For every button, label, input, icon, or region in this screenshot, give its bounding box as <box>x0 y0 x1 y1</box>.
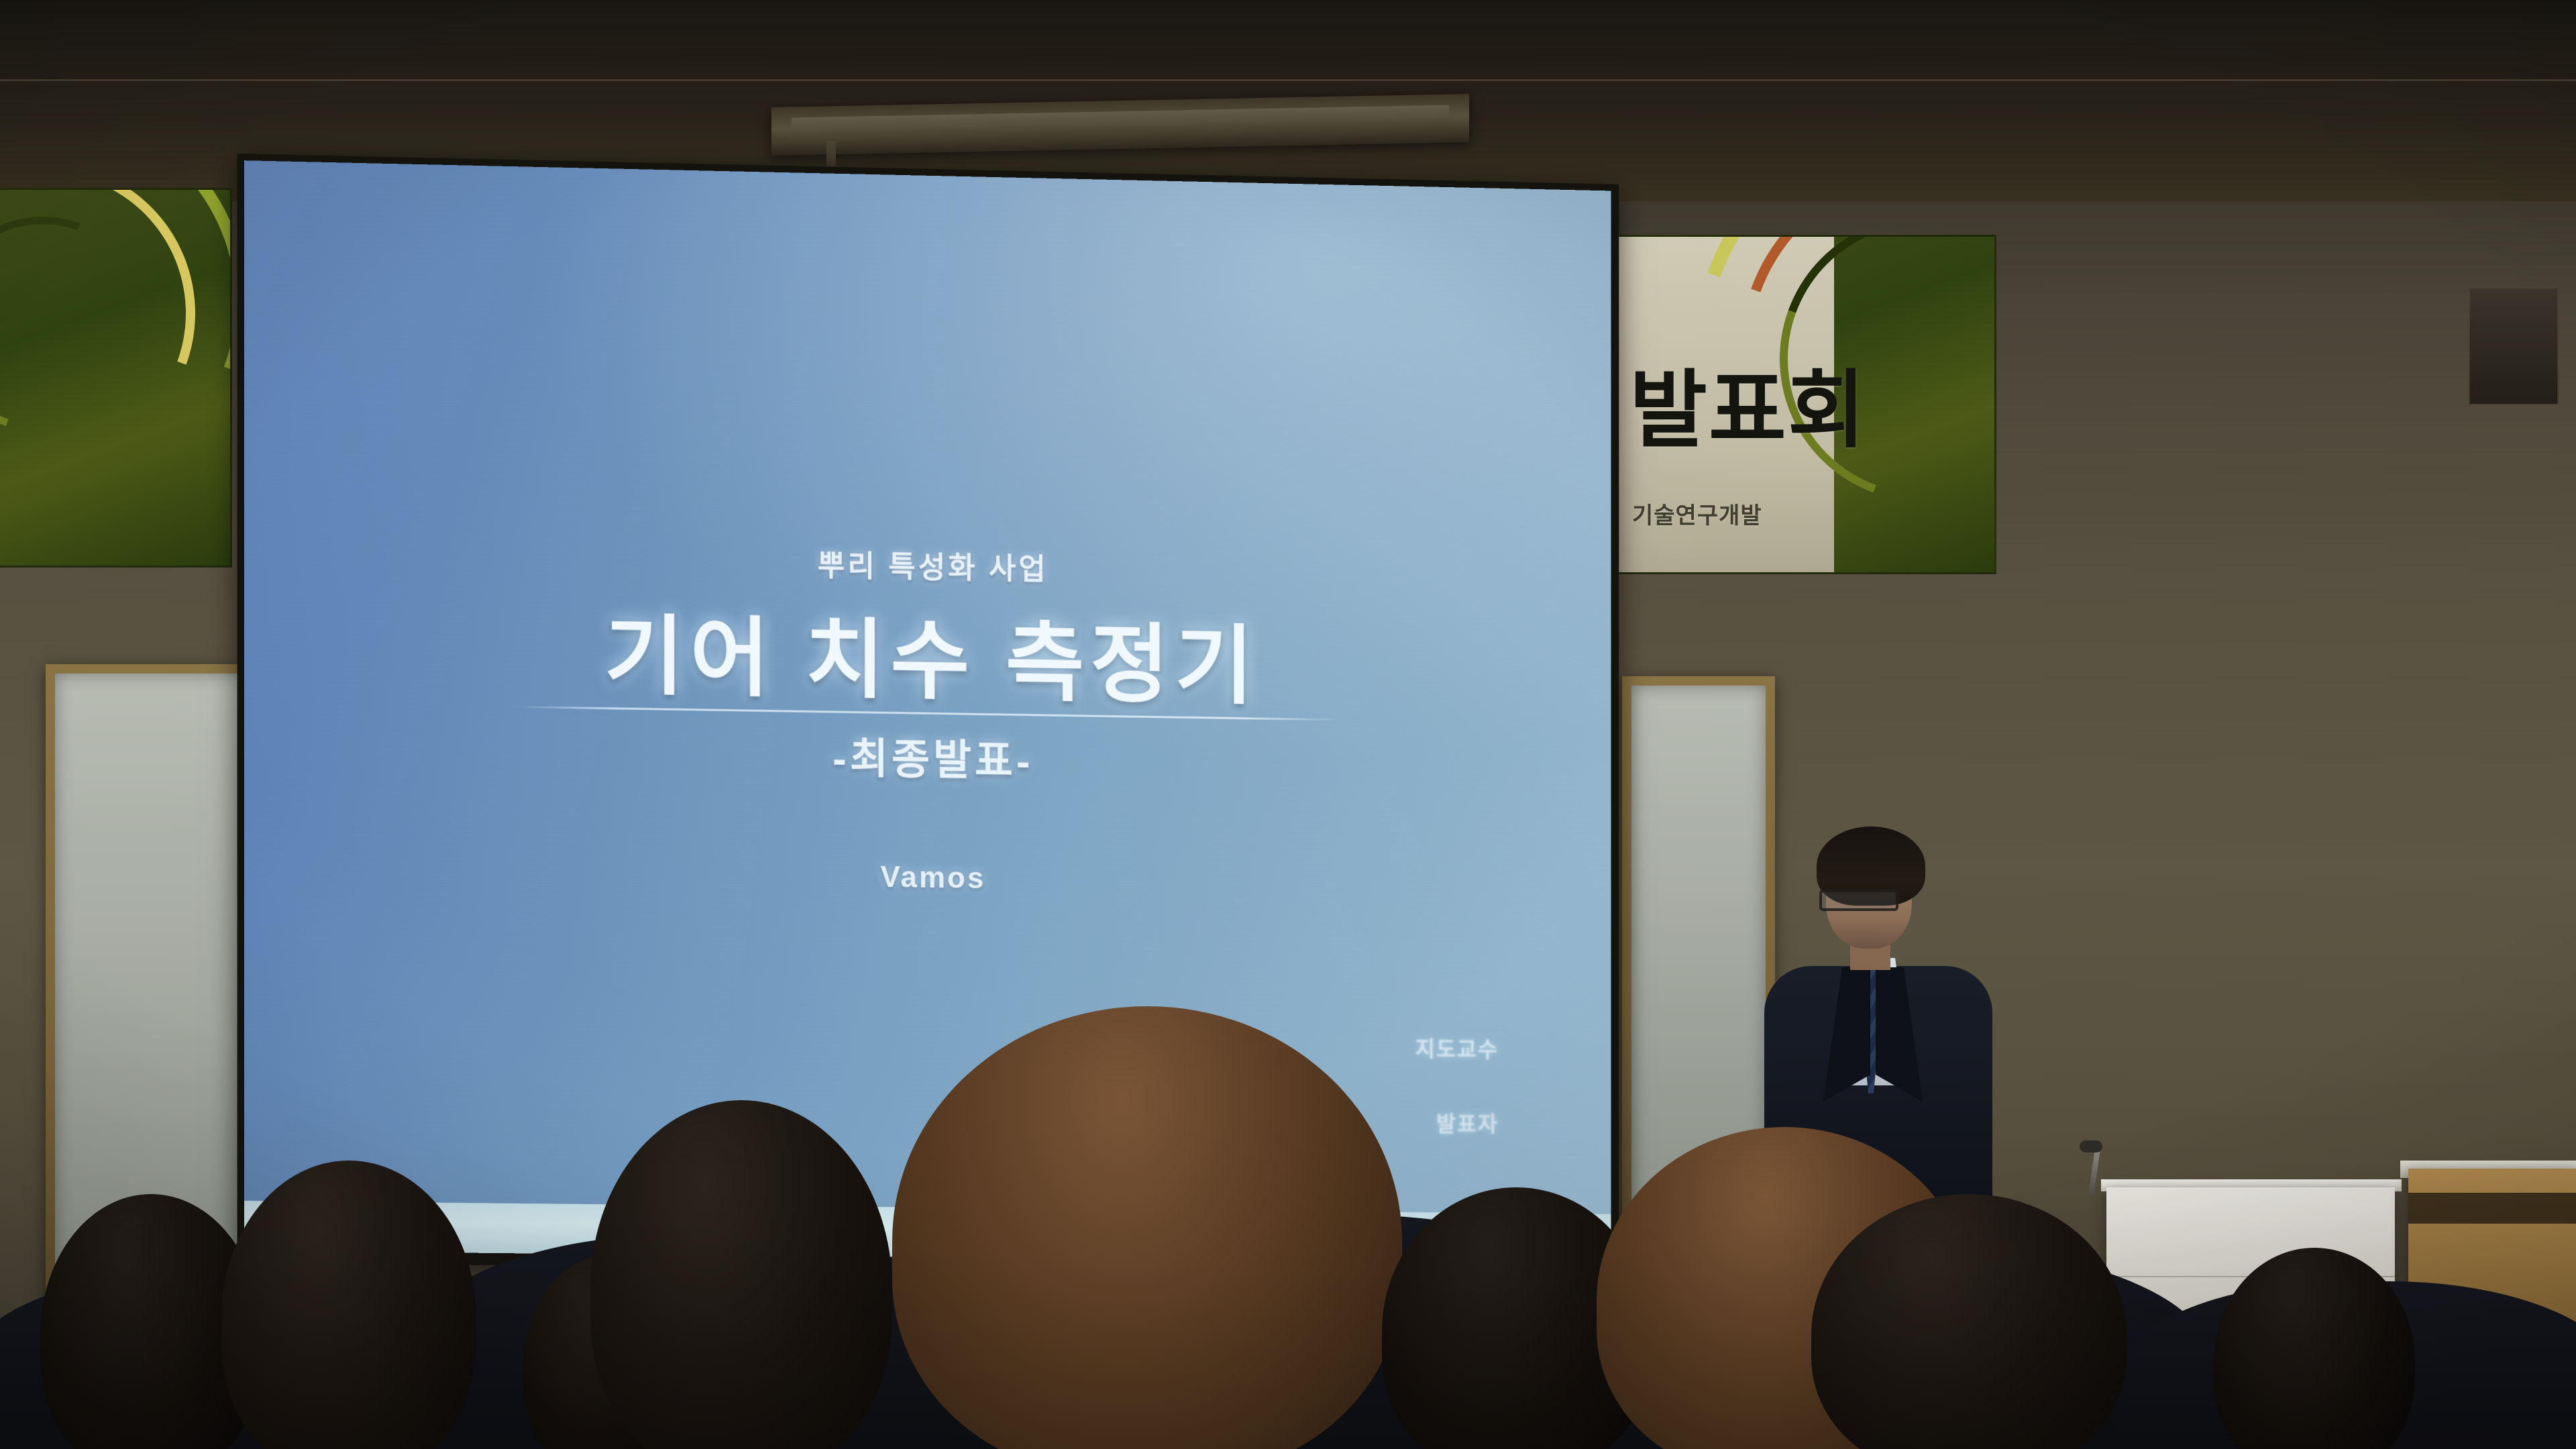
banner-left <box>0 188 232 568</box>
banner-right-title: 발표회 <box>1629 368 1867 453</box>
photo-scene: 발표회 기술연구개발 뿌리 특성화 사업 기어 치수 측정기 -최종발표- Va… <box>0 0 2576 1449</box>
banner-right: 발표회 기술연구개발 <box>1610 235 1996 574</box>
slide-title: 기어 치수 측정기 <box>244 580 1611 727</box>
ceiling-vent-icon <box>2469 288 2559 405</box>
audience <box>0 966 2576 1449</box>
audience-head-5 <box>892 1006 1402 1449</box>
glasses-icon <box>1819 890 1898 911</box>
ceiling-seam <box>0 79 2576 81</box>
audience-head-9 <box>2214 1248 2415 1449</box>
slide-subtitle: -최종발표- <box>244 715 1611 796</box>
slide-team-name: Vamos <box>244 852 1611 904</box>
banner-right-subtitle: 기술연구개발 <box>1632 497 1762 530</box>
audience-head-2 <box>221 1161 476 1449</box>
audience-head-3 <box>590 1100 892 1449</box>
